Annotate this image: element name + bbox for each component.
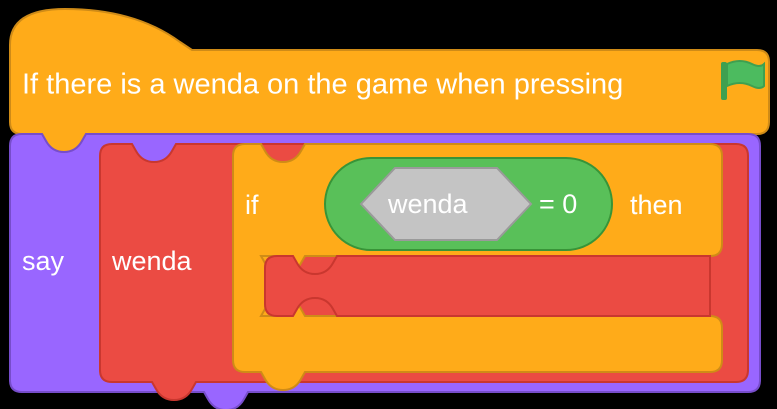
if-block-label-then: then — [630, 190, 683, 220]
if-block-label-if: if — [245, 190, 259, 220]
wenda-block-label: wenda — [111, 246, 193, 276]
if-block-inner-slot[interactable] — [265, 256, 710, 316]
hat-block-label: If there is a wenda on the game when pre… — [22, 69, 623, 101]
wenda-reporter-label: wenda — [387, 189, 469, 219]
equals-operator-block[interactable]: wenda = 0 — [325, 158, 612, 250]
say-block-label: say — [22, 246, 65, 276]
equals-operator-label: = 0 — [539, 189, 577, 219]
block-canvas: If there is a wenda on the game when pre… — [0, 0, 777, 409]
block-script-svg: If there is a wenda on the game when pre… — [0, 0, 777, 409]
hat-block[interactable]: If there is a wenda on the game when pre… — [10, 9, 769, 152]
